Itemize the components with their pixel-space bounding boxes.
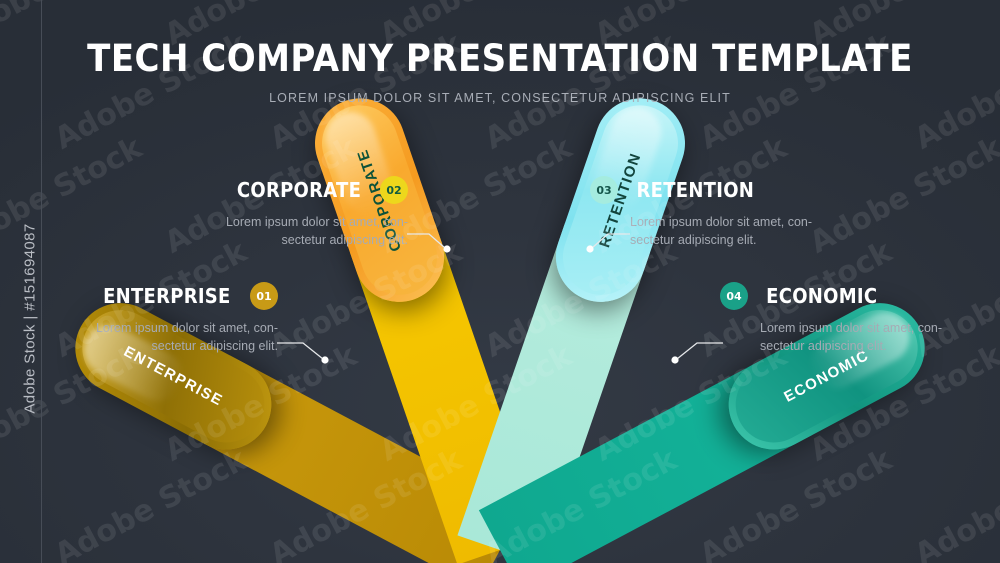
- badge-number-03: 03: [596, 184, 611, 197]
- badge-02: 02: [380, 176, 408, 204]
- badge-number-01: 01: [256, 290, 271, 303]
- stock-rail: Adobe Stock | #151694087: [0, 0, 42, 563]
- connector-corporate: [405, 228, 475, 263]
- rail-divider: [41, 0, 42, 563]
- info-title-retention: RETENTION: [637, 178, 755, 202]
- badge-03: 03: [590, 176, 618, 204]
- badge-04: 04: [720, 282, 748, 310]
- info-title-corporate: CORPORATE: [237, 178, 361, 202]
- info-head-retention: 03 RETENTION: [590, 176, 850, 204]
- info-block-corporate[interactable]: CORPORATE 02 Lorem ipsum dolor sit amet,…: [148, 176, 408, 249]
- info-desc-text-retention: Lorem ipsum dolor sit amet, con- sectetu…: [630, 215, 812, 247]
- info-desc-text-corporate: Lorem ipsum dolor sit amet, con- sectetu…: [226, 215, 408, 247]
- page-title: TECH COMPANY PRESENTATION TEMPLATE: [40, 40, 960, 79]
- info-title-enterprise: ENTERPRISE: [103, 284, 231, 308]
- info-desc-corporate: Lorem ipsum dolor sit amet, con- sectetu…: [148, 213, 408, 249]
- info-head-enterprise: ENTERPRISE 01: [18, 282, 278, 310]
- badge-number-04: 04: [726, 290, 741, 303]
- info-desc-retention: Lorem ipsum dolor sit amet, con- sectetu…: [590, 213, 850, 249]
- badge-number-02: 02: [386, 184, 401, 197]
- info-desc-text-enterprise: Lorem ipsum dolor sit amet, con- sectetu…: [96, 321, 278, 353]
- connector-enterprise: [275, 335, 345, 370]
- info-title-economic: ECONOMIC: [766, 284, 877, 308]
- slide-canvas: ENTERPRISE CORPORATE RETENTION: [0, 0, 1000, 563]
- info-block-enterprise[interactable]: ENTERPRISE 01 Lorem ipsum dolor sit amet…: [18, 282, 278, 355]
- slide-header: TECH COMPANY PRESENTATION TEMPLATE LOREM…: [0, 40, 1000, 105]
- connector-economic: [655, 335, 725, 370]
- info-head-economic: 04 ECONOMIC: [720, 282, 980, 310]
- info-head-corporate: CORPORATE 02: [148, 176, 408, 204]
- info-desc-enterprise: Lorem ipsum dolor sit amet, con- sectetu…: [18, 319, 278, 355]
- info-block-retention[interactable]: 03 RETENTION Lorem ipsum dolor sit amet,…: [590, 176, 850, 249]
- page-subtitle: LOREM IPSUM DOLOR SIT AMET, CONSECTETUR …: [0, 91, 1000, 105]
- stock-id-label: Adobe Stock | #151694087: [22, 89, 39, 549]
- info-block-economic[interactable]: 04 ECONOMIC Lorem ipsum dolor sit amet, …: [720, 282, 980, 355]
- info-desc-economic: Lorem ipsum dolor sit amet, con- sectetu…: [720, 319, 980, 355]
- badge-01: 01: [250, 282, 278, 310]
- info-desc-text-economic: Lorem ipsum dolor sit amet, con- sectetu…: [760, 321, 942, 353]
